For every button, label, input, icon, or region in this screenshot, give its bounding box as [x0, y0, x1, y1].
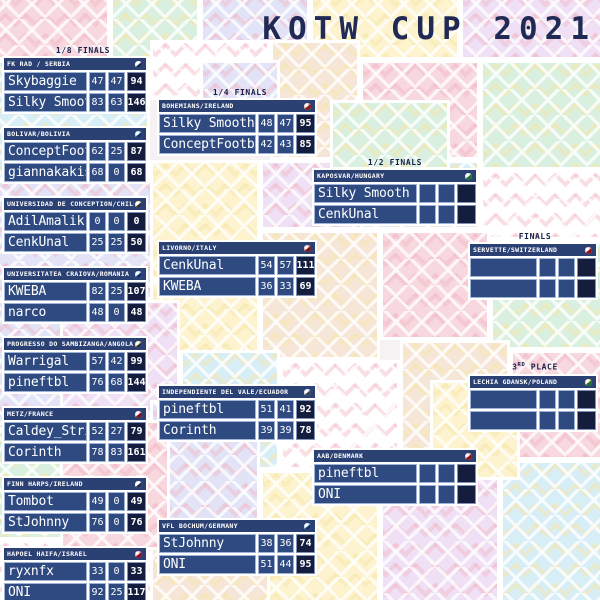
score-total: [457, 485, 476, 504]
round-label-r16: 1/8 FINALS: [28, 46, 138, 55]
score-leg-2: 43: [277, 135, 294, 154]
match-header: LIVORNO/ITALY: [159, 242, 315, 254]
venue-label: LIVORNO/ITALY: [162, 244, 217, 252]
match-row: Silky Smooth: [314, 184, 476, 203]
venue-label: BOLIVAR/BOLIVIA: [7, 130, 70, 138]
match-card[interactable]: UNIVERSITATEA CRAIOVA/ROMANIAKWEBA822510…: [2, 266, 148, 324]
match-row: ONI514495: [159, 555, 315, 574]
score-leg-1: 47: [89, 72, 106, 91]
score-leg-1: 52: [89, 422, 106, 441]
match-header: KAPOSVAR/HUNGARY: [314, 170, 476, 182]
club-crest-icon: [134, 200, 143, 209]
club-crest-icon: [303, 244, 312, 253]
score-total: 144: [127, 373, 146, 392]
venue-label: VFL BOCHUM/GERMANY: [162, 522, 238, 530]
score-leg-2: [438, 485, 455, 504]
club-crest-icon: [464, 172, 473, 181]
venue-label: KAPOSVAR/HUNGARY: [317, 172, 384, 180]
third-place-ordinal: RD: [518, 362, 526, 368]
score-total: 76: [127, 513, 146, 532]
score-leg-1: [419, 184, 436, 203]
score-total: 85: [296, 135, 315, 154]
match-row: KWEBA8225107: [4, 282, 146, 301]
score-leg-2: 0: [108, 212, 125, 231]
score-total: 49: [127, 492, 146, 511]
club-crest-icon: [134, 270, 143, 279]
match-card[interactable]: PROGRESSO DO SAMBIZANGA/ANGOLAWarrigal57…: [2, 336, 148, 394]
club-crest-icon: [584, 246, 593, 255]
score-leg-2: 25: [108, 583, 125, 600]
match-card[interactable]: LECHIA GDANSK/POLAND: [468, 374, 598, 432]
score-leg-2: 39: [277, 421, 294, 440]
club-crest-icon: [303, 102, 312, 111]
club-crest-icon: [464, 452, 473, 461]
score-total: 48: [127, 303, 146, 322]
score-total: 95: [296, 555, 315, 574]
score-leg-2: 0: [108, 163, 125, 182]
venue-label: UNIVERSIDAD DE CONCEPTION/CHILE: [7, 200, 134, 208]
match-row: ConceptFootball424385: [159, 135, 315, 154]
score-leg-1: 76: [89, 373, 106, 392]
score-leg-2: 47: [277, 114, 294, 133]
score-leg-2: [558, 279, 575, 298]
score-leg-1: 83: [89, 93, 106, 112]
match-card[interactable]: FK RAD / SERBIASkybaggie474794Silky Smoo…: [2, 56, 148, 114]
score-leg-1: [419, 205, 436, 224]
match-row: StJohnny76076: [4, 513, 146, 532]
score-leg-2: 25: [108, 142, 125, 161]
score-total: 111: [296, 256, 315, 275]
score-leg-2: 0: [108, 513, 125, 532]
match-card[interactable]: INDEPENDIENTE DEL VALE/ECUADORpineftbl51…: [157, 384, 317, 442]
venue-label: SERVETTE/SWITZERLAND: [473, 246, 557, 254]
player-name: pineftbl: [314, 464, 417, 483]
club-crest-icon: [303, 522, 312, 531]
match-card[interactable]: LIVORNO/ITALYCenkUnal5457111KWEBA363369: [157, 240, 317, 298]
venue-label: HAPOEL HAIFA/ISRAEL: [7, 550, 87, 558]
match-row: CenkUnal5457111: [159, 256, 315, 275]
score-total: 95: [296, 114, 315, 133]
background-tile: [480, 60, 600, 170]
score-leg-1: [539, 279, 556, 298]
player-name: ryxnfx: [4, 562, 87, 581]
score-total: [457, 184, 476, 203]
score-leg-1: 48: [258, 114, 275, 133]
score-total: 78: [296, 421, 315, 440]
venue-label: BOHEMIANS/IRELAND: [162, 102, 234, 110]
round-label-sf: 1/2 FINALS: [335, 158, 455, 167]
venue-label: LECHIA GDANSK/POLAND: [473, 378, 557, 386]
score-leg-1: 48: [89, 303, 106, 322]
score-total: [577, 390, 596, 409]
match-card[interactable]: KAPOSVAR/HUNGARYSilky SmoothCenkUnal: [312, 168, 478, 226]
club-crest-icon: [584, 378, 593, 387]
match-header: SERVETTE/SWITZERLAND: [470, 244, 596, 256]
player-name: StJohnny: [4, 513, 87, 532]
match-header: LECHIA GDANSK/POLAND: [470, 376, 596, 388]
score-total: 50: [127, 233, 146, 252]
score-leg-1: 76: [89, 513, 106, 532]
player-name: pineftbl: [4, 373, 87, 392]
score-leg-2: 0: [108, 562, 125, 581]
score-leg-2: [438, 205, 455, 224]
score-total: 79: [127, 422, 146, 441]
player-name: Tombot: [4, 492, 87, 511]
player-name: Caldey_Strips: [4, 422, 87, 441]
score-total: [457, 205, 476, 224]
match-row: CenkUnal252550: [4, 233, 146, 252]
score-total: 92: [296, 400, 315, 419]
match-card[interactable]: BOLIVAR/BOLIVIAConceptFootball622587gian…: [2, 126, 148, 184]
match-row: [470, 258, 596, 277]
score-leg-1: 39: [258, 421, 275, 440]
score-total: 87: [127, 142, 146, 161]
match-header: METZ/FRANCE: [4, 408, 146, 420]
background-tile: [500, 460, 600, 600]
player-name: [470, 279, 537, 298]
match-row: Caldey_Strips522779: [4, 422, 146, 441]
score-leg-2: 0: [108, 303, 125, 322]
match-header: FK RAD / SERBIA: [4, 58, 146, 70]
player-name: giannakakis: [4, 163, 87, 182]
score-leg-2: 41: [277, 400, 294, 419]
match-header: PROGRESSO DO SAMBIZANGA/ANGOLA: [4, 338, 146, 350]
score-leg-1: [419, 464, 436, 483]
player-name: AdilAmalik: [4, 212, 87, 231]
player-name: Corinth: [159, 421, 256, 440]
match-row: Corinth393978: [159, 421, 315, 440]
score-total: 161: [127, 443, 146, 462]
player-name: Silky Smooth: [314, 184, 417, 203]
score-leg-2: 57: [277, 256, 294, 275]
score-leg-2: [438, 184, 455, 203]
chevron-pattern: [503, 463, 600, 600]
match-row: ConceptFootball622587: [4, 142, 146, 161]
player-name: Corinth: [4, 443, 87, 462]
score-total: 94: [127, 72, 146, 91]
score-total: 107: [127, 282, 146, 301]
score-leg-1: 51: [258, 555, 275, 574]
player-name: Silky Smooth: [4, 93, 87, 112]
club-crest-icon: [134, 130, 143, 139]
player-name: ONI: [159, 555, 256, 574]
score-leg-1: 57: [89, 352, 106, 371]
player-name: ONI: [314, 485, 417, 504]
match-row: Warrigal574299: [4, 352, 146, 371]
score-total: [577, 258, 596, 277]
match-row: CenkUnal: [314, 205, 476, 224]
match-row: pineftbl514192: [159, 400, 315, 419]
player-name: CenkUnal: [314, 205, 417, 224]
player-name: KWEBA: [4, 282, 87, 301]
match-header: AAB/DENMARK: [314, 450, 476, 462]
score-leg-2: 27: [108, 422, 125, 441]
match-row: [470, 279, 596, 298]
score-total: 0: [127, 212, 146, 231]
venue-label: UNIVERSITATEA CRAIOVA/ROMANIA: [7, 270, 129, 278]
score-leg-2: [558, 411, 575, 430]
score-leg-1: [419, 485, 436, 504]
match-header: UNIVERSITATEA CRAIOVA/ROMANIA: [4, 268, 146, 280]
match-card[interactable]: HAPOEL HAIFA/ISRAELryxnfx33033ONI9225117: [2, 546, 148, 600]
venue-label: FINN HARPS/IRELAND: [7, 480, 83, 488]
venue-label: FK RAD / SERBIA: [7, 60, 70, 68]
match-card[interactable]: VFL BOCHUM/GERMANYStJohnny383674ONI51449…: [157, 518, 317, 576]
score-leg-1: 49: [89, 492, 106, 511]
player-name: CenkUnal: [4, 233, 87, 252]
score-leg-1: 78: [89, 443, 106, 462]
match-row: AdilAmalik000: [4, 212, 146, 231]
score-total: 69: [296, 277, 315, 296]
score-leg-2: 33: [277, 277, 294, 296]
score-leg-1: 36: [258, 277, 275, 296]
club-crest-icon: [134, 60, 143, 69]
score-leg-2: 63: [108, 93, 125, 112]
score-leg-1: 42: [258, 135, 275, 154]
score-leg-1: 38: [258, 534, 275, 553]
venue-label: AAB/DENMARK: [317, 452, 363, 460]
match-row: KWEBA363369: [159, 277, 315, 296]
player-name: ONI: [4, 583, 87, 600]
player-name: [470, 258, 537, 277]
score-leg-2: 36: [277, 534, 294, 553]
club-crest-icon: [134, 550, 143, 559]
player-name: CenkUnal: [159, 256, 256, 275]
match-row: Tombot49049: [4, 492, 146, 511]
score-leg-2: [438, 464, 455, 483]
player-name: KWEBA: [159, 277, 256, 296]
score-total: [457, 464, 476, 483]
match-row: Silky Smooth8363146: [4, 93, 146, 112]
score-leg-1: [539, 390, 556, 409]
score-total: 74: [296, 534, 315, 553]
score-leg-1: 25: [89, 233, 106, 252]
score-leg-1: [539, 411, 556, 430]
match-card[interactable]: SERVETTE/SWITZERLAND: [468, 242, 598, 300]
match-card[interactable]: FINN HARPS/IRELANDTombot49049StJohnny760…: [2, 476, 148, 534]
player-name: pineftbl: [159, 400, 256, 419]
score-leg-2: [558, 258, 575, 277]
match-card[interactable]: METZ/FRANCECaldey_Strips522779Corinth788…: [2, 406, 148, 464]
player-name: Warrigal: [4, 352, 87, 371]
score-leg-1: 33: [89, 562, 106, 581]
venue-label: INDEPENDIENTE DEL VALE/ECUADOR: [162, 388, 288, 396]
venue-label: PROGRESSO DO SAMBIZANGA/ANGOLA: [7, 340, 133, 348]
score-leg-2: 44: [277, 555, 294, 574]
match-row: pineftbl7668144: [4, 373, 146, 392]
score-leg-2: [558, 390, 575, 409]
bracket-page: KOTW CUP 2021 1/8 FINALS 1/4 FINALS 1/2 …: [0, 0, 600, 600]
player-name: [470, 390, 537, 409]
player-name: ConceptFootball: [4, 142, 87, 161]
player-name: Silky Smooth: [159, 114, 256, 133]
score-total: 146: [127, 93, 146, 112]
player-name: StJohnny: [159, 534, 256, 553]
score-leg-1: 51: [258, 400, 275, 419]
score-leg-1: 68: [89, 163, 106, 182]
score-total: [577, 411, 596, 430]
score-total: 99: [127, 352, 146, 371]
score-leg-2: 0: [108, 492, 125, 511]
score-leg-2: 42: [108, 352, 125, 371]
match-header: HAPOEL HAIFA/ISRAEL: [4, 548, 146, 560]
score-leg-1: 92: [89, 583, 106, 600]
round-label-qf: 1/4 FINALS: [180, 88, 300, 97]
player-name: ConceptFootball: [159, 135, 256, 154]
chevron-pattern: [483, 173, 600, 237]
match-row: narco48048: [4, 303, 146, 322]
match-header: BOLIVAR/BOLIVIA: [4, 128, 146, 140]
round-label-third: 3RD PLACE: [480, 362, 590, 372]
match-header: VFL BOCHUM/GERMANY: [159, 520, 315, 532]
club-crest-icon: [134, 410, 143, 419]
match-row: pineftbl: [314, 464, 476, 483]
score-leg-1: 82: [89, 282, 106, 301]
match-row: Skybaggie474794: [4, 72, 146, 91]
score-total: 117: [127, 583, 146, 600]
match-header: UNIVERSIDAD DE CONCEPTION/CHILE: [4, 198, 146, 210]
score-leg-2: 25: [108, 282, 125, 301]
background-tile: [480, 170, 600, 240]
player-name: narco: [4, 303, 87, 322]
score-total: 33: [127, 562, 146, 581]
score-leg-1: [539, 258, 556, 277]
match-row: ONI9225117: [4, 583, 146, 600]
score-leg-2: 25: [108, 233, 125, 252]
score-leg-2: 68: [108, 373, 125, 392]
match-card[interactable]: AAB/DENMARKpineftblONI: [312, 448, 478, 506]
score-total: [577, 279, 596, 298]
player-name: Skybaggie: [4, 72, 87, 91]
score-leg-2: 83: [108, 443, 125, 462]
match-header: BOHEMIANS/IRELAND: [159, 100, 315, 112]
player-name: [470, 411, 537, 430]
match-row: Silky Smooth484795: [159, 114, 315, 133]
round-label-final: FINALS: [480, 232, 590, 241]
match-card[interactable]: BOHEMIANS/IRELANDSilky Smooth484795Conce…: [157, 98, 317, 156]
third-place-word: PLACE: [531, 363, 558, 372]
score-total: 68: [127, 163, 146, 182]
club-crest-icon: [134, 480, 143, 489]
match-row: Corinth7883161: [4, 443, 146, 462]
chevron-pattern: [483, 63, 600, 167]
score-leg-2: 47: [108, 72, 125, 91]
match-row: StJohnny383674: [159, 534, 315, 553]
score-leg-1: 62: [89, 142, 106, 161]
match-header: FINN HARPS/IRELAND: [4, 478, 146, 490]
venue-label: METZ/FRANCE: [7, 410, 53, 418]
club-crest-icon: [303, 388, 312, 397]
score-leg-1: 54: [258, 256, 275, 275]
match-row: [470, 411, 596, 430]
match-row: giannakakis68068: [4, 163, 146, 182]
match-row: ONI: [314, 485, 476, 504]
page-title: KOTW CUP 2021: [300, 8, 596, 50]
match-header: INDEPENDIENTE DEL VALE/ECUADOR: [159, 386, 315, 398]
club-crest-icon: [134, 340, 143, 349]
match-row: ryxnfx33033: [4, 562, 146, 581]
match-row: [470, 390, 596, 409]
match-card[interactable]: UNIVERSIDAD DE CONCEPTION/CHILEAdilAmali…: [2, 196, 148, 254]
score-leg-1: 0: [89, 212, 106, 231]
